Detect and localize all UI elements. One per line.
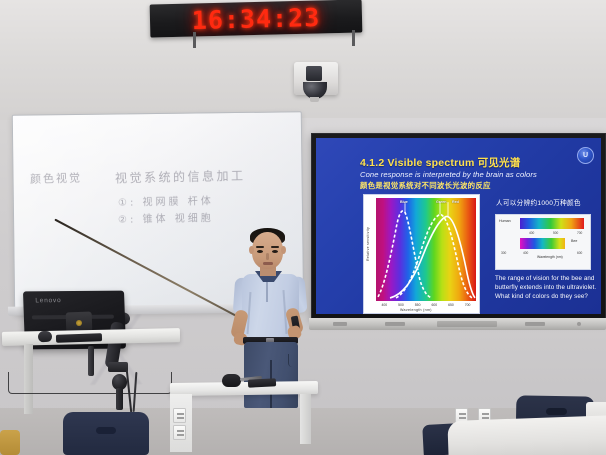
slide-title: 4.1.2 Visible spectrum 可见光谱 — [360, 155, 520, 170]
comparison-tick: 300 — [501, 251, 506, 255]
left-eye — [257, 250, 263, 253]
comparison-scale: 300 400 600 Wavelength (nm) — [499, 251, 587, 260]
vision-range-comparison: Human 400 500 700 Bee 300 400 600 Wavele… — [495, 214, 591, 270]
university-logo-icon: U — [577, 147, 594, 164]
chart-y-axis-label: Relative sensitivity — [366, 227, 370, 261]
slide-chinese-note: 人可以分辨约1000万种颜色 — [496, 197, 581, 207]
chair-back-handle — [96, 427, 116, 434]
chart-tick: 500 — [398, 303, 404, 307]
right-eye — [272, 250, 278, 253]
left-ear — [249, 246, 254, 254]
whiteboard-text-line-2: 视觉系统的信息加工 — [115, 167, 246, 187]
comparison-axis-label: Wavelength (nm) — [537, 255, 563, 259]
slide-question-text: The range of vision for the bee and butt… — [495, 275, 599, 302]
lectern-leg — [300, 394, 311, 444]
display-menu-button[interactable] — [525, 322, 545, 326]
comparison-label-bee: Bee — [571, 240, 591, 244]
chart-tick: 700 — [465, 303, 471, 307]
lectern-panel — [170, 394, 192, 452]
chart-tick: 650 — [448, 303, 454, 307]
chart-tick: 550 — [415, 303, 421, 307]
cone-sensitivity-chart: Relative sensitivity Blue Green Red — [363, 194, 480, 314]
presentation-slide: U 4.1.2 Visible spectrum 可见光谱 Cone respo… — [316, 138, 601, 314]
spectrum-bar-human — [520, 218, 584, 229]
comparison-tick: 400 — [523, 251, 528, 255]
chair-back-handle — [546, 408, 567, 415]
chart-curves — [376, 198, 476, 301]
chart-tick: 400 — [381, 303, 387, 307]
comparison-tick: 400 — [529, 231, 534, 235]
comparison-label-human: Human — [499, 220, 519, 224]
monitor-brand-label: Lenovo — [35, 297, 61, 304]
clock-bracket-right — [352, 30, 355, 46]
mouth — [263, 262, 273, 265]
display-ir-sensor-icon — [577, 322, 581, 326]
clock-bracket-left — [193, 32, 196, 48]
computer-mouse[interactable] — [38, 331, 52, 342]
camera-lens-icon — [306, 66, 322, 81]
comparison-mid-ticks: 400 500 700 — [499, 231, 587, 238]
right-eyebrow — [271, 246, 279, 248]
desk-cable-tray — [8, 372, 172, 394]
camera-mount — [310, 97, 319, 102]
power-outlet[interactable] — [173, 425, 186, 440]
led-wall-clock: 16:34:23 — [150, 0, 363, 38]
vesa-screw-icon — [76, 320, 82, 326]
chart-plot-area: Blue Green Red — [376, 198, 476, 301]
comparison-tick: 600 — [577, 251, 582, 255]
chart-tick: 600 — [431, 303, 437, 307]
display-speaker-grille — [437, 321, 497, 327]
whiteboard-text-line-1: 颜色视觉 — [30, 169, 82, 186]
microphone-body — [116, 388, 123, 410]
comparison-tick: 500 — [553, 231, 558, 235]
desk-object-remote[interactable] — [248, 378, 276, 387]
keyboard[interactable] — [56, 333, 102, 343]
student-table — [447, 415, 606, 455]
whiteboard-text-line-3: ①: 视网膜 杆体 — [118, 192, 214, 209]
chart-annotation-blue: Blue — [400, 200, 408, 204]
nose — [266, 253, 269, 260]
display-input-button[interactable] — [385, 322, 405, 326]
desk-object-pouch[interactable] — [222, 374, 241, 387]
display-power-button[interactable] — [333, 322, 347, 326]
lectern-table — [170, 381, 318, 396]
chart-annotation-red: Red — [452, 200, 459, 204]
trouser-pocket — [288, 354, 297, 367]
chart-x-axis-label: Wavelength (nm) — [400, 308, 432, 312]
classroom-scene: 16:34:23 颜色视觉 视觉系统的信息加工 ①: 视网膜 杆体 ②: 锥体 … — [0, 0, 606, 455]
power-outlet[interactable] — [173, 408, 186, 423]
whiteboard-text-line-4: ②: 锥体 视细胞 — [118, 209, 214, 226]
right-ear — [281, 246, 286, 254]
slide-subtitle-chinese: 颜色是视觉系统对不同波长光波的反应 — [360, 180, 491, 191]
comparison-tick: 700 — [577, 231, 582, 235]
comparison-row-bee: Bee — [499, 238, 587, 249]
chart-annotation-green: Green — [436, 200, 446, 204]
spectrum-bar-bee — [520, 238, 565, 249]
left-eyebrow — [256, 246, 264, 248]
clock-time-display: 16:34:23 — [150, 1, 363, 35]
interactive-display[interactable]: U 4.1.2 Visible spectrum 可见光谱 Cone respo… — [311, 133, 606, 319]
chart-x-ticks: 400 500 550 600 650 700 — [376, 303, 476, 307]
display-bottom-bezel — [309, 318, 606, 330]
chair-armrest — [0, 430, 20, 455]
comparison-row-human: Human — [499, 218, 587, 229]
slide-subtitle-english: Cone response is interpreted by the brai… — [360, 170, 537, 179]
